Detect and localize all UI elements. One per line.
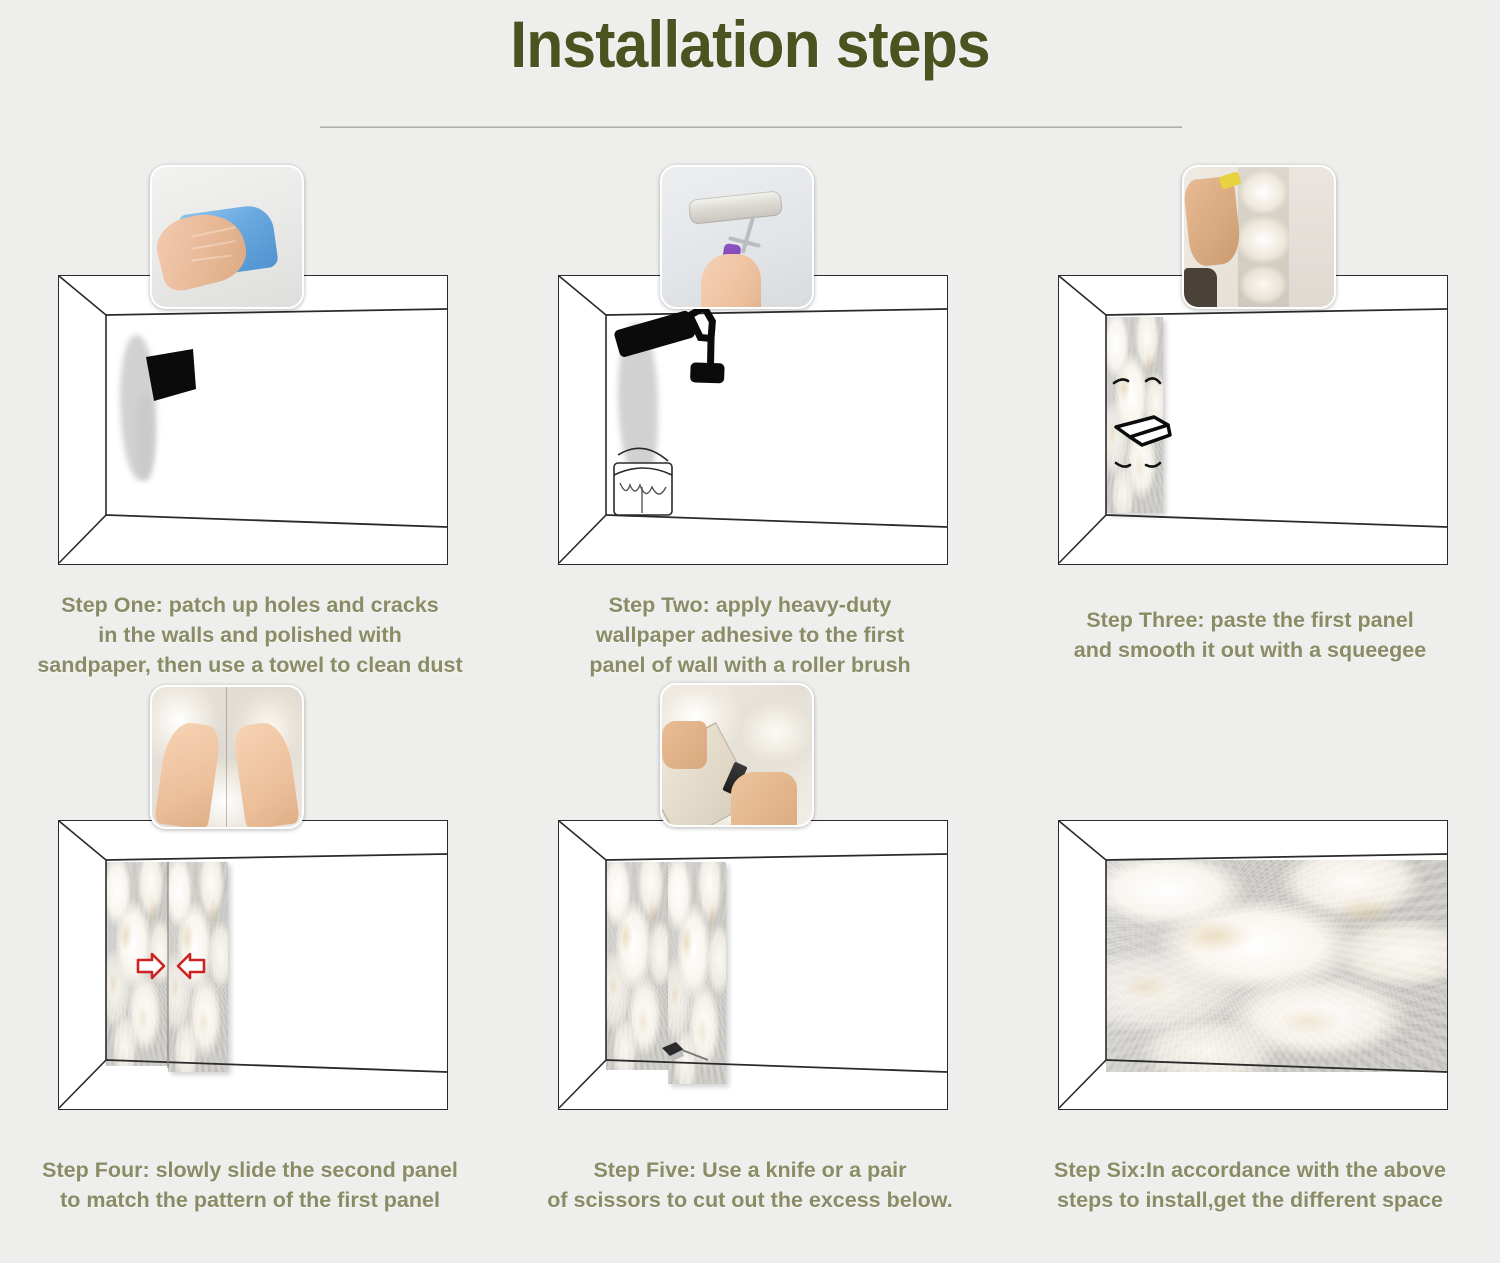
caption-line: steps to install,get the different space bbox=[1000, 1185, 1500, 1215]
roller-frame-shape bbox=[741, 215, 756, 254]
paint-roller-icon bbox=[558, 275, 948, 565]
caption-line: in the walls and polished with bbox=[0, 620, 500, 650]
steps-row-bottom: Step Four: slowly slide the second panel… bbox=[0, 695, 1500, 1240]
step-caption-three: Step Three: paste the first panel and sm… bbox=[1000, 605, 1500, 665]
inset-photo-step-four bbox=[150, 685, 304, 829]
caption-line: Step Four: slowly slide the second panel bbox=[0, 1155, 500, 1185]
step-card-four: Step Four: slowly slide the second panel… bbox=[0, 695, 500, 1240]
room-illustration-three bbox=[1058, 275, 1448, 565]
room-illustration-five bbox=[558, 820, 948, 1110]
room-perspective-lines bbox=[1058, 275, 1448, 565]
caption-line: wallpaper adhesive to the first bbox=[500, 620, 1000, 650]
steps-grid: Step One: patch up holes and cracks in t… bbox=[0, 150, 1500, 1240]
step-card-two: Step Two: apply heavy-duty wallpaper adh… bbox=[500, 150, 1000, 695]
caption-line: of scissors to cut out the excess below. bbox=[500, 1185, 1000, 1215]
step-card-six: Step Six:In accordance with the above st… bbox=[1000, 695, 1500, 1240]
step-caption-one: Step One: patch up holes and cracks in t… bbox=[0, 590, 500, 680]
room-perspective-lines bbox=[558, 820, 948, 1110]
panel-seam-line bbox=[226, 687, 228, 827]
utility-knife-icon bbox=[662, 1042, 708, 1061]
arrow-right-icon bbox=[138, 954, 164, 978]
two-hands-smoothing-wallpaper-photo bbox=[152, 687, 302, 827]
roller-sleeve-shape bbox=[688, 190, 783, 225]
sponge-icon bbox=[58, 275, 448, 565]
hands-trimming-wallpaper-with-knife-photo bbox=[662, 685, 812, 825]
inset-photo-step-one bbox=[150, 165, 304, 309]
room-illustration-six bbox=[1058, 820, 1448, 1110]
caption-line: Step One: patch up holes and cracks bbox=[0, 590, 500, 620]
steps-row-top: Step One: patch up holes and cracks in t… bbox=[0, 150, 1500, 695]
caption-line: Step Three: paste the first panel bbox=[1000, 605, 1500, 635]
hand-wiping-wall-with-blue-cloth-photo bbox=[152, 167, 302, 307]
glue-bucket-icon bbox=[614, 448, 672, 515]
caption-line: and smooth it out with a squeegee bbox=[1000, 635, 1500, 665]
step-caption-four: Step Four: slowly slide the second panel… bbox=[0, 1155, 500, 1215]
hand-shape bbox=[701, 254, 761, 307]
room-illustration-two bbox=[558, 275, 948, 565]
squeegee-icon bbox=[1116, 417, 1170, 445]
right-hand-shape bbox=[731, 772, 797, 825]
step-card-three: Step Three: paste the first panel and sm… bbox=[1000, 150, 1500, 695]
caption-line: to match the pattern of the first panel bbox=[0, 1185, 500, 1215]
wallpaper-strip-shape bbox=[1238, 167, 1289, 307]
title-divider bbox=[320, 126, 1182, 128]
step-card-one: Step One: patch up holes and cracks in t… bbox=[0, 150, 500, 695]
wall-shape bbox=[1289, 167, 1334, 307]
arrow-left-icon bbox=[178, 954, 204, 978]
caption-line: Step Five: Use a knife or a pair bbox=[500, 1155, 1000, 1185]
room-illustration-four bbox=[58, 820, 448, 1110]
arm-shape bbox=[1184, 176, 1242, 268]
step-caption-six: Step Six:In accordance with the above st… bbox=[1000, 1155, 1500, 1215]
inset-photo-step-two bbox=[660, 165, 814, 309]
room-illustration-one bbox=[58, 275, 448, 565]
step-card-five: Step Five: Use a knife or a pair of scis… bbox=[500, 695, 1000, 1240]
caption-line: sandpaper, then use a towel to clean dus… bbox=[0, 650, 500, 680]
page-title: Installation steps bbox=[60, 6, 1440, 82]
step-caption-five: Step Five: Use a knife or a pair of scis… bbox=[500, 1155, 1000, 1215]
caption-line: Step Two: apply heavy-duty bbox=[500, 590, 1000, 620]
room-perspective-lines bbox=[1058, 820, 1448, 1110]
room-perspective-lines bbox=[58, 820, 448, 1110]
inset-photo-step-five bbox=[660, 683, 814, 827]
step-caption-two: Step Two: apply heavy-duty wallpaper adh… bbox=[500, 590, 1000, 680]
inset-photo-step-three bbox=[1182, 165, 1336, 309]
person-pasting-wallpaper-panel-photo bbox=[1184, 167, 1334, 307]
clothing-shape bbox=[1184, 268, 1217, 307]
hand-holding-paint-roller-photo bbox=[662, 167, 812, 307]
left-hand-shape bbox=[662, 721, 707, 769]
caption-line: Step Six:In accordance with the above bbox=[1000, 1155, 1500, 1185]
caption-line: panel of wall with a roller brush bbox=[500, 650, 1000, 680]
